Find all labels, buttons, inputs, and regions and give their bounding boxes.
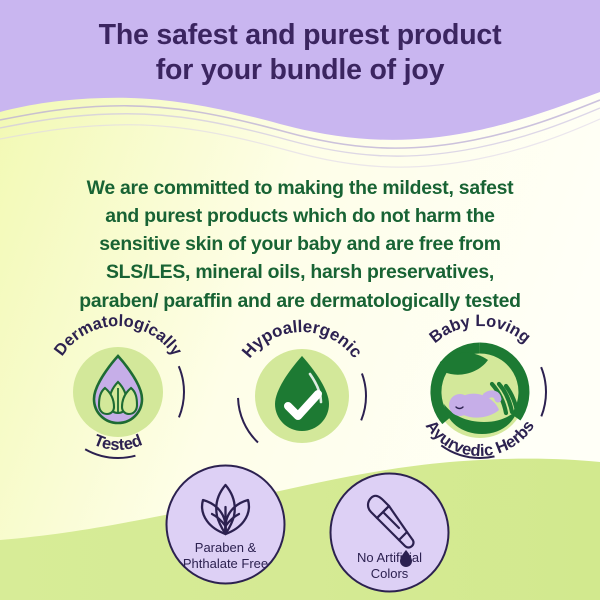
pill-label-line-2: Phthalate Free xyxy=(183,556,268,571)
poster-title-line-1: The safest and purest product xyxy=(0,18,600,53)
badge-hypoallergenic: Hypoallergenic xyxy=(222,316,382,476)
body-line-4: SLS/LES, mineral oils, harsh preservativ… xyxy=(30,258,570,286)
badge-baby-loving-graphic: Baby Loving Ayurvedic Herbs xyxy=(400,312,560,472)
certification-badges-row: Dermatologically Tested xyxy=(0,312,600,472)
badge-dermatologically-tested: Dermatologically Tested xyxy=(38,312,198,472)
pill-label-line-2: Colors xyxy=(371,566,409,581)
pill-paraben-graphic: Paraben & Phthalate Free xyxy=(163,462,288,587)
badge-baby-loving-ayurvedic-herbs: Baby Loving Ayurvedic Herbs xyxy=(400,312,560,472)
pill-paraben-phthalate-free: Paraben & Phthalate Free xyxy=(163,462,288,587)
body-line-3: sensitive skin of your baby and are free… xyxy=(30,230,570,258)
product-claims-poster: The safest and purest product for your b… xyxy=(0,0,600,600)
feature-pills-row: Paraben & Phthalate Free No Artificial xyxy=(0,462,600,592)
pill-label-line-1: No Artificial xyxy=(357,550,422,565)
poster-title-line-2: for your bundle of joy xyxy=(0,53,600,88)
badge-dermatologically-tested-graphic: Dermatologically Tested xyxy=(38,312,198,472)
body-line-5: paraben/ paraffin and are dermatological… xyxy=(30,287,570,315)
body-line-2: and purest products which do not harm th… xyxy=(30,202,570,230)
pill-no-artificial-colors-graphic: No Artificial Colors xyxy=(327,470,452,595)
badge-hypoallergenic-graphic: Hypoallergenic xyxy=(222,316,382,476)
pill-no-artificial-colors: No Artificial Colors xyxy=(327,470,452,595)
poster-body-copy: We are committed to making the mildest, … xyxy=(30,174,570,315)
body-line-1: We are committed to making the mildest, … xyxy=(30,174,570,202)
pill-label-line-1: Paraben & xyxy=(195,540,257,555)
poster-title: The safest and purest product for your b… xyxy=(0,18,600,88)
badge-arc-top-text: Baby Loving xyxy=(426,312,534,347)
